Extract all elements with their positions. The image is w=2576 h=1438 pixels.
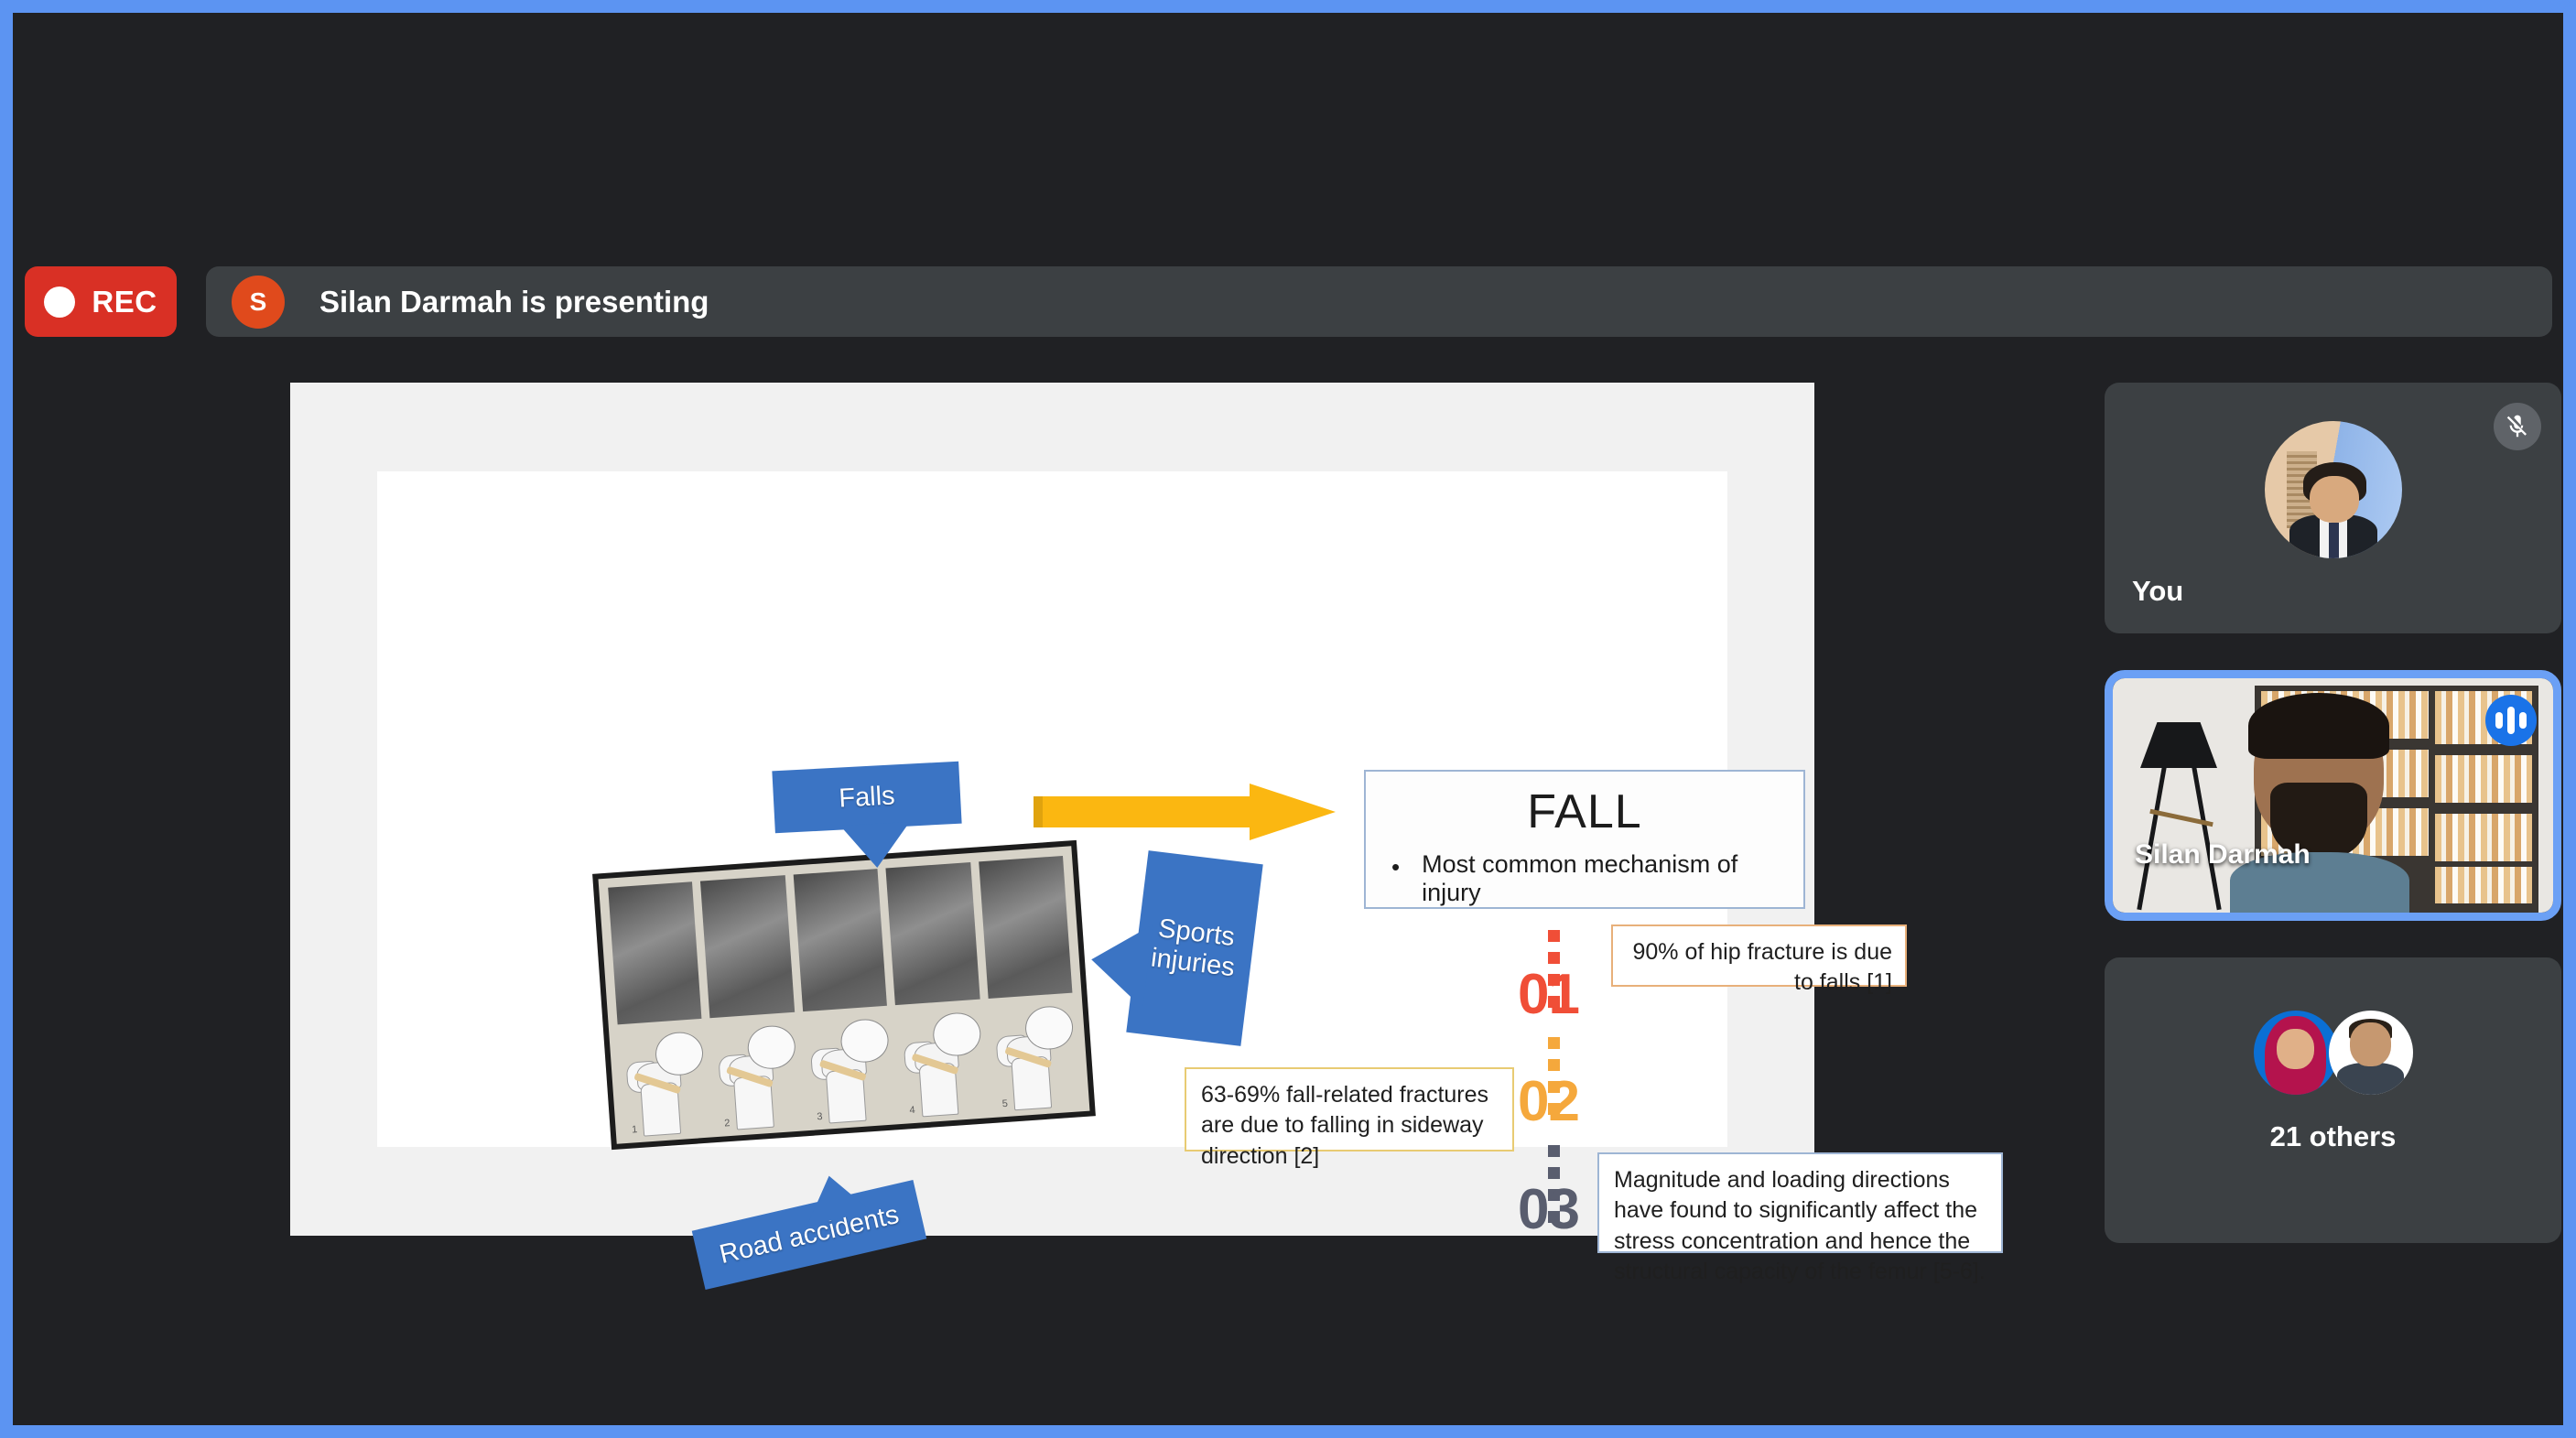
avatar bbox=[2265, 421, 2402, 558]
presentation-stage[interactable]: 1 2 3 4 5 Falls Sports injuries Road acc… bbox=[290, 383, 1814, 1236]
others-count-label: 21 others bbox=[2105, 1120, 2561, 1153]
recording-label: REC bbox=[92, 285, 157, 319]
participant-tile-silan-darmah[interactable]: Silan Darmah bbox=[2105, 670, 2561, 921]
mic-off-icon[interactable] bbox=[2494, 403, 2541, 450]
avatar bbox=[2254, 1011, 2338, 1095]
participant-tile-others[interactable]: 21 others bbox=[2105, 957, 2561, 1243]
participant-tile-you[interactable]: You bbox=[2105, 383, 2561, 633]
step-number-03: 03 bbox=[1518, 1182, 1579, 1238]
step-text-box-02: 63-69% fall-related fractures are due to… bbox=[1185, 1067, 1514, 1151]
presenter-avatar: S bbox=[232, 276, 285, 329]
audio-active-icon bbox=[2485, 695, 2537, 746]
fall-heading: FALL bbox=[1366, 784, 1803, 839]
others-avatars bbox=[2254, 1011, 2413, 1095]
step-number-01: 01 bbox=[1518, 967, 1579, 1023]
step-text-01: 90% of hip fracture is due to falls [1] bbox=[1626, 937, 1892, 999]
xray-panel-image: 1 2 3 4 5 bbox=[592, 840, 1096, 1150]
step-text-03: Magnitude and loading directions have fo… bbox=[1614, 1165, 1986, 1287]
participant-name-silan-darmah: Silan Darmah bbox=[2135, 839, 2311, 870]
presenting-text: Silan Darmah is presenting bbox=[319, 285, 709, 319]
arrow-left-icon bbox=[1087, 918, 1153, 1009]
bullet-dot-icon: • bbox=[1391, 855, 1400, 879]
fall-title-box: FALL • Most common mechanism of injury bbox=[1364, 770, 1805, 909]
step-text-box-01: 90% of hip fracture is due to falls [1] bbox=[1611, 924, 1907, 987]
callout-sports-label: Sports injuries bbox=[1133, 912, 1255, 986]
presenting-banner[interactable]: S Silan Darmah is presenting bbox=[206, 266, 2552, 337]
participant-name-you: You bbox=[2132, 575, 2183, 608]
arrow-right-icon bbox=[1034, 784, 1336, 840]
recording-badge[interactable]: REC bbox=[25, 266, 177, 337]
step-text-02: 63-69% fall-related fractures are due to… bbox=[1201, 1080, 1498, 1172]
arrow-down-icon bbox=[840, 822, 912, 870]
step-text-box-03: Magnitude and loading directions have fo… bbox=[1597, 1152, 2003, 1253]
record-dot-icon bbox=[44, 287, 75, 318]
avatar bbox=[2329, 1011, 2413, 1095]
step-number-02: 02 bbox=[1518, 1074, 1579, 1130]
callout-falls-label: Falls bbox=[839, 781, 896, 814]
meeting-window: REC S Silan Darmah is presenting 1 2 3 4… bbox=[13, 13, 2563, 1425]
callout-falls: Falls bbox=[772, 762, 961, 834]
screen-root: REC S Silan Darmah is presenting 1 2 3 4… bbox=[0, 0, 2576, 1438]
fall-bullet-text: Most common mechanism of injury bbox=[1422, 850, 1803, 907]
